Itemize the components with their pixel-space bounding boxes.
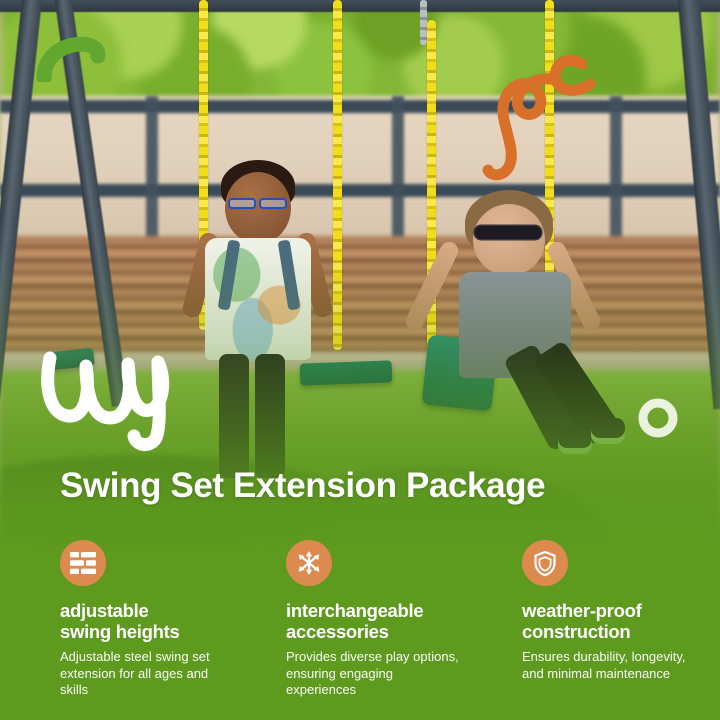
feature-title-line: adjustable [60, 600, 149, 621]
swing-top-beam [0, 0, 720, 12]
head [473, 204, 545, 276]
eyeglasses [228, 198, 256, 209]
feature-desc-line: Adjustable steel swing set [60, 649, 210, 664]
feature-desc-line: Provides diverse play options, [286, 649, 459, 664]
child-left [175, 158, 355, 478]
feature-title: weather-proof construction [522, 600, 704, 642]
feature-title-line: weather-proof [522, 600, 641, 621]
feature-desc-line: extension for all ages and skills [60, 666, 208, 698]
ring-white-decoration [636, 396, 680, 440]
page-title: Swing Set Extension Package [60, 466, 545, 506]
feature-title-line: construction [522, 621, 630, 642]
feature-title-line: accessories [286, 621, 389, 642]
feature-desc-line: ensuring engaging experiences [286, 666, 393, 698]
leg [219, 354, 249, 478]
feature-desc-line: and minimal maintenance [522, 666, 670, 681]
feature-title: interchangeable accessories [286, 600, 464, 642]
feature-description: Adjustable steel swing set extension for… [60, 649, 224, 699]
squiggle-orange-decoration [470, 36, 604, 186]
feature-description: Ensures durability, longevity, and minim… [522, 649, 704, 682]
feature-description: Provides diverse play options, ensuring … [286, 649, 464, 699]
feature-item-weather-proof-construction: weather-proof construction Ensures durab… [480, 540, 720, 720]
eyeglasses [259, 198, 287, 209]
feature-title-line: interchangeable [286, 600, 423, 621]
sunglasses [475, 226, 541, 239]
arc-green-decoration [36, 22, 108, 82]
feature-title: adjustable swing heights [60, 600, 224, 642]
multi-direction-arrows-icon [286, 540, 332, 586]
shoe [591, 418, 625, 444]
swing-chain [420, 0, 427, 45]
shield-icon [522, 540, 568, 586]
brick-wall-icon [60, 540, 106, 586]
feature-item-adjustable-swing-heights: adjustable swing heights Adjustable stee… [0, 540, 240, 720]
product-banner: Swing Set Extension Package adjustable s… [0, 0, 720, 720]
feature-item-interchangeable-accessories: interchangeable accessories Provides div… [240, 540, 480, 720]
feature-title-line: swing heights [60, 621, 179, 642]
feature-list: adjustable swing heights Adjustable stee… [0, 540, 720, 720]
shoe [558, 428, 592, 454]
leg [255, 354, 285, 478]
feature-desc-line: Ensures durability, longevity, [522, 649, 686, 664]
squiggle-white-decoration [36, 348, 186, 452]
child-right [425, 190, 635, 470]
